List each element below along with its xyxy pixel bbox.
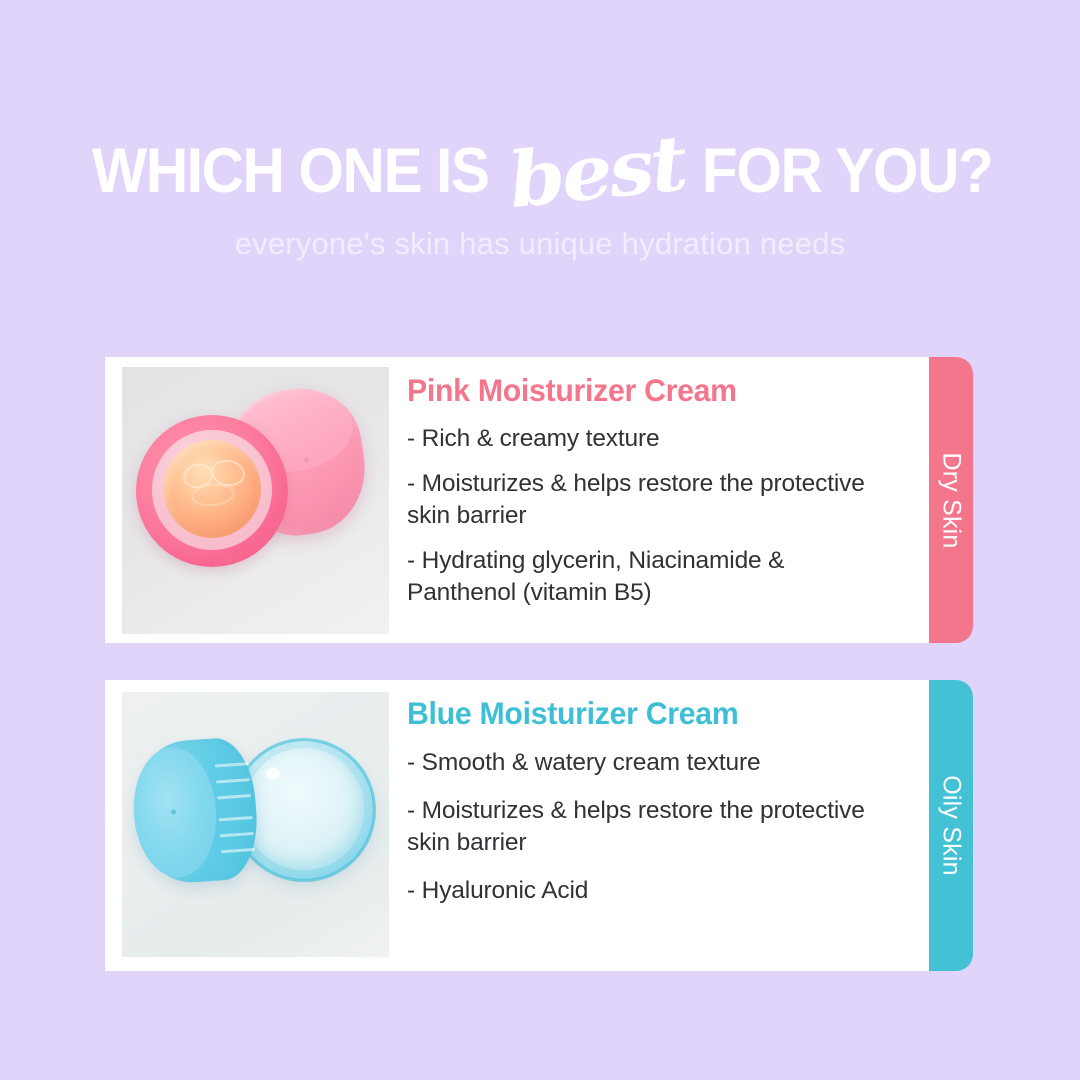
blue-card-title: Blue Moisturizer Cream (407, 697, 909, 730)
blue-card-body: Blue Moisturizer Cream - Smooth & watery… (389, 680, 930, 924)
lid-thread-line (221, 848, 255, 853)
side-tab-label: Dry Skin (937, 452, 966, 548)
headline-part-1: WHICH ONE IS (92, 140, 489, 203)
lid-thread-line (216, 778, 250, 783)
lid-thread-line (215, 762, 249, 767)
product-card-pink[interactable]: Pink Moisturizer Cream - Rich & creamy t… (105, 357, 930, 643)
pink-card-title: Pink Moisturizer Cream (407, 374, 909, 407)
headline: WHICH ONE IS best FOR YOU? (0, 128, 1080, 204)
side-tab-label: Oily Skin (937, 775, 966, 875)
list-item: - Smooth & watery cream texture (407, 747, 895, 778)
blue-lid-center-dot (171, 809, 176, 814)
pink-moisturizer-jar-photo (122, 367, 389, 634)
blue-moisturizer-jar-photo (122, 692, 389, 957)
list-item: - Moisturizes & helps restore the protec… (407, 795, 895, 858)
lid-thread-line (219, 816, 253, 821)
blue-card-bullets: - Smooth & watery cream texture - Moistu… (407, 747, 930, 906)
pink-jar-inner-ring (152, 430, 272, 550)
pink-card-bullets: - Rich & creamy texture - Moisturizes & … (407, 423, 930, 608)
list-item: - Hydrating glycerin, Niacinamide & Pant… (407, 545, 895, 608)
pink-cream-surface (163, 440, 261, 538)
subheadline: everyone's skin has unique hydration nee… (0, 226, 1080, 262)
side-tab-oily-skin[interactable]: Oily Skin (929, 680, 973, 971)
list-item: - Hyaluronic Acid (407, 875, 895, 906)
list-item: - Moisturizes & helps restore the protec… (407, 468, 895, 531)
pink-card-body: Pink Moisturizer Cream - Rich & creamy t… (389, 357, 930, 608)
side-tab-dry-skin[interactable]: Dry Skin (929, 357, 973, 643)
pink-jar-base-icon (136, 415, 288, 567)
headline-script-word: best (506, 125, 689, 219)
product-card-blue[interactable]: Blue Moisturizer Cream - Smooth & watery… (105, 680, 930, 971)
page-header: WHICH ONE IS best FOR YOU? everyone's sk… (0, 128, 1080, 262)
lid-thread-line (217, 794, 251, 799)
headline-part-2: FOR YOU? (702, 140, 992, 203)
lid-thread-line (220, 832, 254, 837)
list-item: - Rich & creamy texture (407, 423, 895, 454)
